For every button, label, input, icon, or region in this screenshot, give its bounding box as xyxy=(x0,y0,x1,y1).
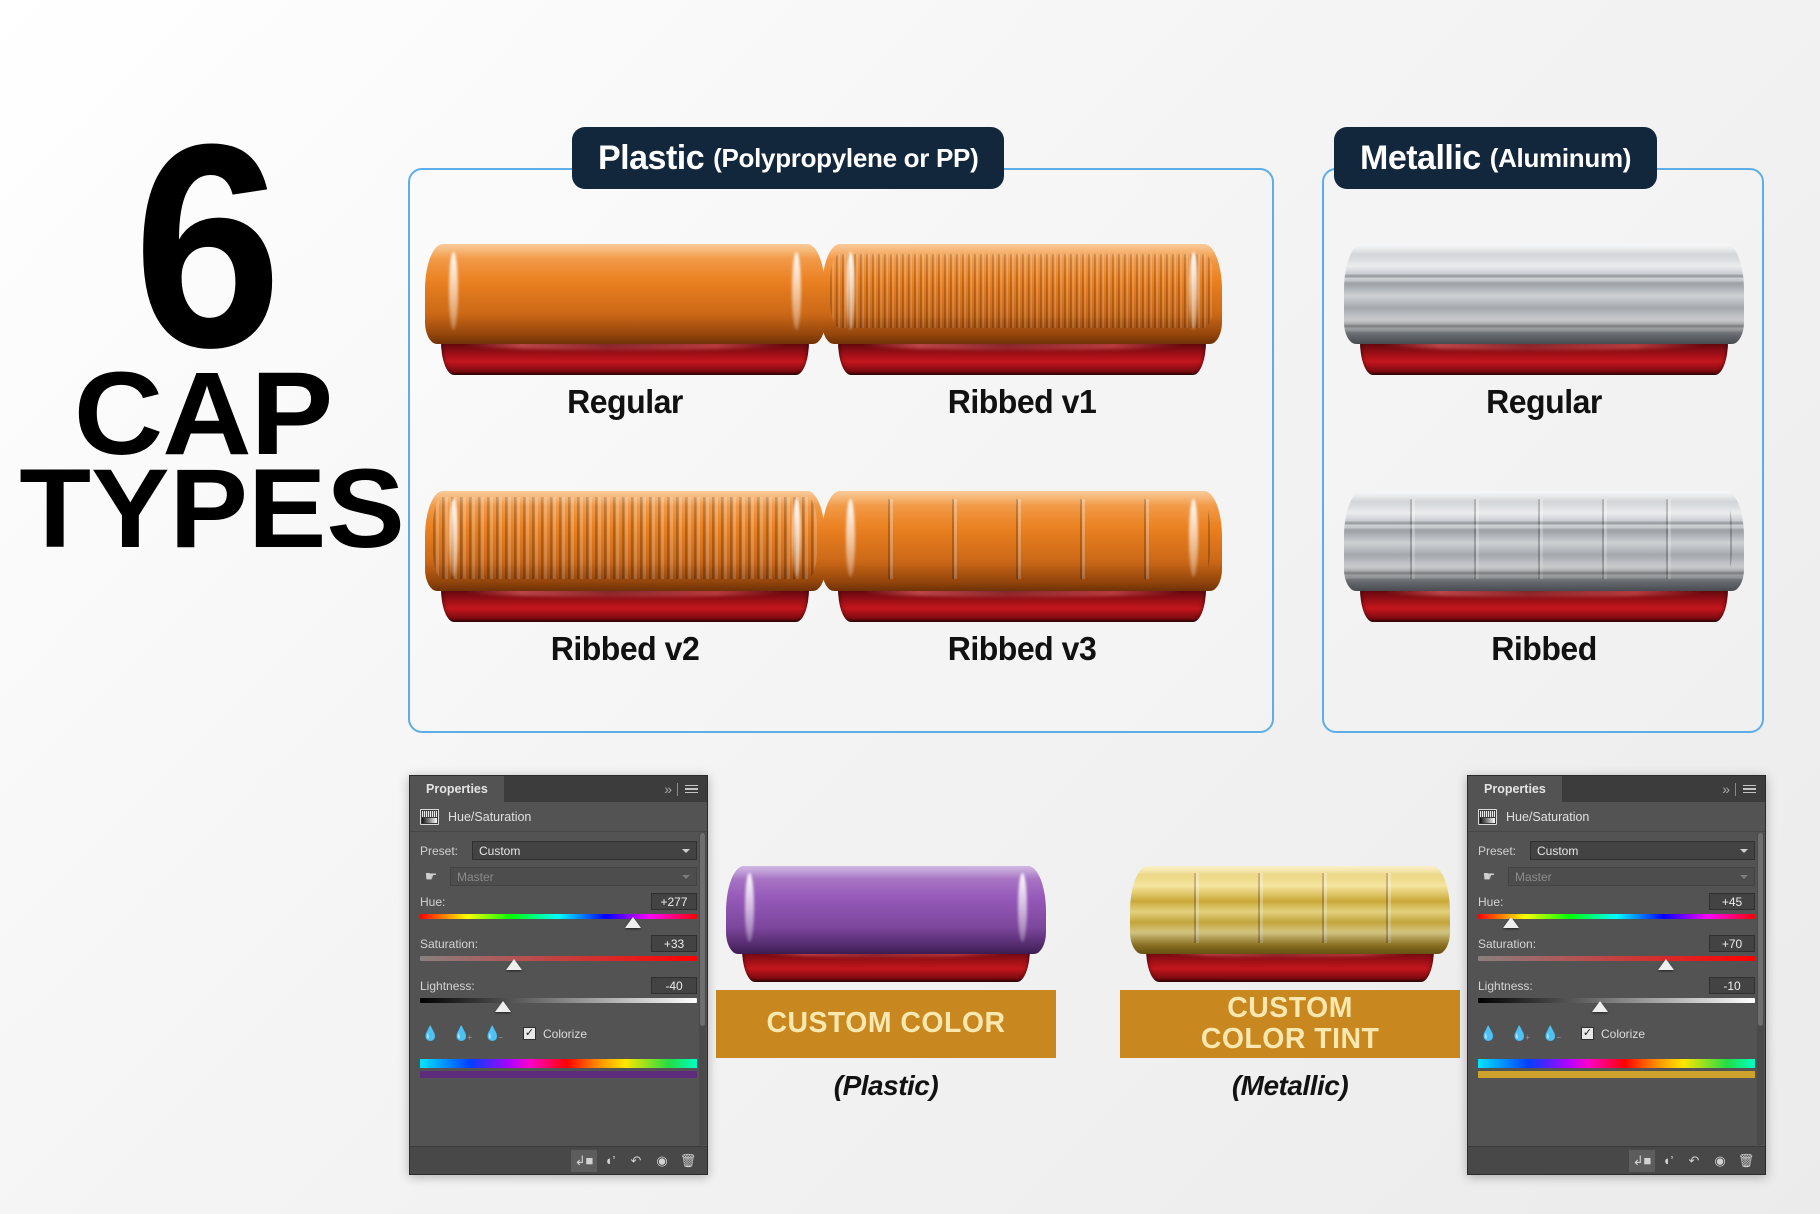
channel-value: Master xyxy=(1515,870,1552,884)
eyedropper-subtract-icon[interactable]: 💧− xyxy=(1542,1025,1559,1042)
preset-value: Custom xyxy=(1537,844,1578,858)
headline-number: 6 xyxy=(42,128,364,366)
lightness-slider-block: Lightness: -40 xyxy=(420,977,697,1013)
saturation-slider-block: Saturation: +70 xyxy=(1478,935,1755,971)
lightness-gradient-bar xyxy=(1478,998,1755,1003)
cap-body xyxy=(1130,866,1450,954)
saturation-gradient-bar xyxy=(420,956,697,961)
toggle-visibility-icon[interactable]: ◉ xyxy=(649,1150,675,1172)
eyedropper-row: 💧 💧+ 💧− ✓ Colorize xyxy=(1480,1025,1755,1042)
channel-row: ☛ Master xyxy=(420,867,697,886)
lightness-knob[interactable] xyxy=(495,1001,511,1012)
hue-track[interactable] xyxy=(420,913,697,929)
colorize-label: Colorize xyxy=(1601,1027,1645,1041)
saturation-value[interactable]: +33 xyxy=(651,935,697,952)
cap-label: Ribbed v1 xyxy=(828,383,1216,421)
cap-plastic-ribbed-v2: Ribbed v2 xyxy=(425,487,825,668)
hue-knob[interactable] xyxy=(625,917,641,928)
custom-color-box-metallic: CUSTOM COLOR TINT xyxy=(1120,990,1460,1058)
tab-properties[interactable]: Properties xyxy=(1468,776,1562,802)
properties-panel-right[interactable]: Properties » Hue/Saturation Preset: Cust… xyxy=(1467,775,1766,1175)
chevron-down-icon xyxy=(682,875,690,879)
colorize-control[interactable]: ✓ Colorize xyxy=(523,1027,587,1041)
cap-rib-texture xyxy=(433,497,817,579)
preset-row: Preset: Custom xyxy=(1478,841,1755,860)
cap-highlight-right xyxy=(1189,252,1198,330)
custom-color-box-line-2: COLOR TINT xyxy=(1201,1024,1380,1055)
preset-select[interactable]: Custom xyxy=(1530,841,1755,860)
cap-image-custom-metallic xyxy=(1130,862,1450,982)
metallic-group-label: Metallic (Aluminum) xyxy=(1334,127,1657,189)
eyedropper-icon[interactable]: 💧 xyxy=(422,1025,439,1042)
lightness-knob[interactable] xyxy=(1592,1001,1608,1012)
cap-image-plastic-ribbed-v3 xyxy=(822,487,1222,622)
lightness-gradient-bar xyxy=(420,998,697,1003)
chevron-down-icon xyxy=(1740,849,1748,853)
cap-highlight-left xyxy=(846,499,855,577)
headline-line2: TYPES xyxy=(19,463,387,555)
panel-body: Preset: Custom ☛ Master Hue: +45 xyxy=(1468,832,1765,1078)
eyedropper-add-icon[interactable]: 💧+ xyxy=(1511,1025,1528,1042)
hue-saturation-icon xyxy=(420,809,439,825)
cap-label: Ribbed xyxy=(1350,630,1738,668)
panel-body: Preset: Custom ☛ Master Hue: +277 xyxy=(410,832,707,1078)
cap-body xyxy=(726,866,1046,954)
color-spectrum-bar xyxy=(1478,1059,1755,1068)
preset-row: Preset: Custom xyxy=(420,841,697,860)
cap-highlight-right xyxy=(792,499,801,577)
channel-row: ☛ Master xyxy=(1478,867,1755,886)
cap-label: Ribbed v2 xyxy=(431,630,819,668)
lightness-value[interactable]: -10 xyxy=(1709,977,1755,994)
lightness-label: Lightness: xyxy=(1478,979,1533,993)
hue-gradient-bar xyxy=(1478,914,1755,919)
metallic-label-sub: (Aluminum) xyxy=(1490,143,1631,174)
cap-highlight-left xyxy=(745,873,754,942)
colorize-checkbox[interactable]: ✓ xyxy=(1581,1027,1594,1040)
cap-highlight-right xyxy=(792,252,801,330)
view-previous-state-icon[interactable]: ◖’ xyxy=(1655,1150,1681,1172)
toggle-visibility-icon[interactable]: ◉ xyxy=(1707,1150,1733,1172)
channel-select[interactable]: Master xyxy=(1508,867,1755,886)
chevron-down-icon xyxy=(1740,875,1748,879)
saturation-slider-head: Saturation: +33 xyxy=(420,935,697,952)
tabbar-divider xyxy=(1735,783,1736,796)
cap-highlight-left xyxy=(846,252,855,330)
hue-label: Hue: xyxy=(1478,895,1503,909)
custom-color-caption-plastic: (Plastic) xyxy=(716,1070,1056,1102)
colorize-checkbox[interactable]: ✓ xyxy=(523,1027,536,1040)
panel-scrollbar[interactable] xyxy=(699,833,706,1145)
hue-saturation-icon xyxy=(1478,809,1497,825)
cap-highlight-right xyxy=(1018,873,1027,942)
panel-scrollbar[interactable] xyxy=(1757,833,1764,1145)
cap-image-plastic-regular xyxy=(425,240,825,375)
adjustment-header: Hue/Saturation xyxy=(410,802,707,832)
hue-value[interactable]: +277 xyxy=(651,893,697,910)
cap-body xyxy=(425,244,825,344)
cap-label: Ribbed v3 xyxy=(828,630,1216,668)
custom-color-metallic: CUSTOM COLOR TINT (Metallic) xyxy=(1120,862,1460,1102)
panel-menu-icon[interactable] xyxy=(1743,785,1756,794)
saturation-slider-head: Saturation: +70 xyxy=(1478,935,1755,952)
panel-tabbar-controls: » xyxy=(664,781,707,797)
cap-body xyxy=(1344,491,1744,591)
cap-highlight-left xyxy=(449,499,458,577)
channel-value: Master xyxy=(457,870,494,884)
saturation-value[interactable]: +70 xyxy=(1709,935,1755,952)
plastic-group-label: Plastic (Polypropylene or PP) xyxy=(572,127,1004,189)
panel-tabbar: Properties » xyxy=(1468,776,1765,802)
saturation-slider-block: Saturation: +33 xyxy=(420,935,697,971)
on-image-adjust-hand-icon[interactable]: ☛ xyxy=(420,867,442,886)
result-color-bar xyxy=(420,1071,697,1078)
saturation-track[interactable] xyxy=(420,955,697,971)
colorize-control[interactable]: ✓ Colorize xyxy=(1581,1027,1645,1041)
hue-slider-head: Hue: +277 xyxy=(420,893,697,910)
lightness-slider-head: Lightness: -40 xyxy=(420,977,697,994)
view-previous-state-icon[interactable]: ◖’ xyxy=(597,1150,623,1172)
collapse-chevrons-icon[interactable]: » xyxy=(664,781,670,797)
cap-highlight-right xyxy=(1189,499,1198,577)
color-spectrum-bar xyxy=(420,1059,697,1068)
cap-image-plastic-ribbed-v1 xyxy=(822,240,1222,375)
cap-label: Regular xyxy=(1350,383,1738,421)
custom-color-caption-metallic: (Metallic) xyxy=(1120,1070,1460,1102)
hue-label: Hue: xyxy=(420,895,445,909)
custom-color-plastic: CUSTOM COLOR (Plastic) xyxy=(716,862,1056,1102)
cap-metallic-regular: Regular xyxy=(1344,240,1744,421)
cap-sheen xyxy=(425,244,825,344)
chevron-down-icon xyxy=(682,849,690,853)
adjustment-title: Hue/Saturation xyxy=(1506,810,1589,824)
cap-image-plastic-ribbed-v2 xyxy=(425,487,825,622)
spectrum-section xyxy=(1478,1059,1755,1078)
lightness-track[interactable] xyxy=(1478,997,1755,1013)
delete-icon[interactable]: 🗑 xyxy=(675,1150,701,1172)
channel-select[interactable]: Master xyxy=(450,867,697,886)
collapse-chevrons-icon[interactable]: » xyxy=(1722,781,1728,797)
cap-band-texture xyxy=(1344,244,1744,344)
cap-metallic-ribbed: Ribbed xyxy=(1344,487,1744,668)
panel-tabbar-controls: » xyxy=(1722,781,1765,797)
spectrum-section xyxy=(420,1059,697,1078)
cap-body xyxy=(425,491,825,591)
preset-select[interactable]: Custom xyxy=(472,841,697,860)
eyedropper-icon[interactable]: 💧 xyxy=(1480,1025,1497,1042)
properties-panel-left[interactable]: Properties » Hue/Saturation Preset: Cust… xyxy=(409,775,708,1175)
adjustment-header: Hue/Saturation xyxy=(1468,802,1765,832)
cap-panel-texture xyxy=(1140,873,1441,943)
panel-footer: ↲■ ◖’ ↶ ◉ 🗑 xyxy=(1468,1146,1765,1174)
cap-image-metallic-regular xyxy=(1344,240,1744,375)
result-color-bar xyxy=(1478,1071,1755,1078)
cap-plastic-ribbed-v1: Ribbed v1 xyxy=(822,240,1222,421)
on-image-adjust-hand-icon[interactable]: ☛ xyxy=(1478,867,1500,886)
cap-plastic-regular: Regular xyxy=(425,240,825,421)
eyedropper-add-icon[interactable]: 💧+ xyxy=(453,1025,470,1042)
page-title: 6 CAP TYPES xyxy=(28,128,378,554)
cap-panel-texture xyxy=(834,499,1210,579)
hue-slider-head: Hue: +45 xyxy=(1478,893,1755,910)
panel-menu-icon[interactable] xyxy=(685,785,698,794)
clip-to-layer-icon[interactable]: ↲■ xyxy=(571,1150,597,1172)
hue-gradient-bar xyxy=(420,914,697,919)
panel-footer: ↲■ ◖’ ↶ ◉ 🗑 xyxy=(410,1146,707,1174)
preset-label: Preset: xyxy=(420,844,472,858)
cap-label: Regular xyxy=(431,383,819,421)
tab-properties[interactable]: Properties xyxy=(410,776,504,802)
cap-body xyxy=(822,244,1222,344)
custom-color-box-line: CUSTOM COLOR xyxy=(766,1008,1005,1039)
lightness-label: Lightness: xyxy=(420,979,475,993)
lightness-slider-head: Lightness: -10 xyxy=(1478,977,1755,994)
cap-rib-texture xyxy=(830,254,1214,328)
cap-highlight-left xyxy=(449,252,458,330)
cap-sheen xyxy=(726,866,1046,954)
panel-tabbar: Properties » xyxy=(410,776,707,802)
preset-label: Preset: xyxy=(1478,844,1530,858)
cap-band-texture xyxy=(1344,491,1744,591)
saturation-label: Saturation: xyxy=(420,937,478,951)
saturation-track[interactable] xyxy=(1478,955,1755,971)
hue-knob[interactable] xyxy=(1503,917,1519,928)
tabbar-divider xyxy=(677,783,678,796)
hue-slider-block: Hue: +45 xyxy=(1478,893,1755,929)
lightness-track[interactable] xyxy=(420,997,697,1013)
reset-icon[interactable]: ↶ xyxy=(1681,1150,1707,1172)
plastic-label-main: Plastic xyxy=(598,139,704,178)
saturation-knob[interactable] xyxy=(506,959,522,970)
colorize-label: Colorize xyxy=(543,1027,587,1041)
hue-value[interactable]: +45 xyxy=(1709,893,1755,910)
saturation-label: Saturation: xyxy=(1478,937,1536,951)
custom-color-box-line-1: CUSTOM xyxy=(1227,993,1353,1024)
adjustment-title: Hue/Saturation xyxy=(448,810,531,824)
delete-icon[interactable]: 🗑 xyxy=(1733,1150,1759,1172)
preset-value: Custom xyxy=(479,844,520,858)
cap-image-custom-plastic xyxy=(726,862,1046,982)
cap-body xyxy=(822,491,1222,591)
metallic-label-main: Metallic xyxy=(1360,139,1481,178)
reset-icon[interactable]: ↶ xyxy=(623,1150,649,1172)
lightness-value[interactable]: -40 xyxy=(651,977,697,994)
lightness-slider-block: Lightness: -10 xyxy=(1478,977,1755,1013)
custom-color-box-plastic: CUSTOM COLOR xyxy=(716,990,1056,1058)
eyedropper-subtract-icon[interactable]: 💧− xyxy=(484,1025,501,1042)
saturation-knob[interactable] xyxy=(1658,959,1674,970)
cap-image-metallic-ribbed xyxy=(1344,487,1744,622)
saturation-gradient-bar xyxy=(1478,956,1755,961)
cap-body xyxy=(1344,244,1744,344)
hue-track[interactable] xyxy=(1478,913,1755,929)
eyedropper-row: 💧 💧+ 💧− ✓ Colorize xyxy=(422,1025,697,1042)
clip-to-layer-icon[interactable]: ↲■ xyxy=(1629,1150,1655,1172)
hue-slider-block: Hue: +277 xyxy=(420,893,697,929)
plastic-label-sub: (Polypropylene or PP) xyxy=(713,143,978,174)
cap-plastic-ribbed-v3: Ribbed v3 xyxy=(822,487,1222,668)
